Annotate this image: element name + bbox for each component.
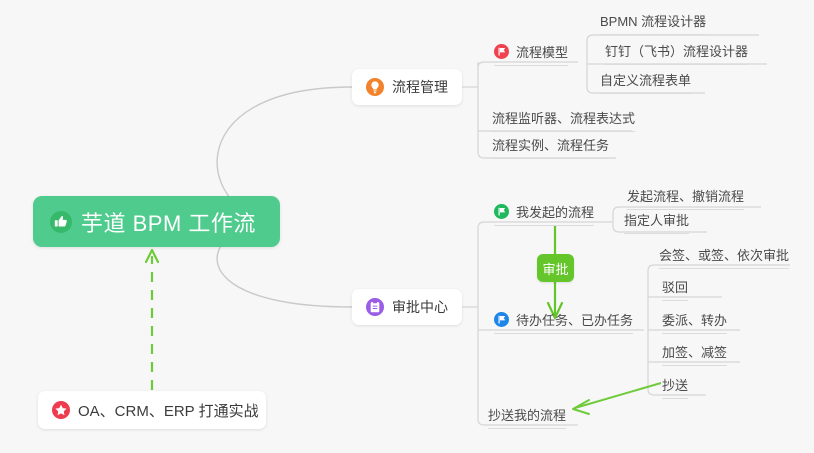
lightbulb-icon bbox=[366, 78, 384, 96]
leaf-custom-flow-form-label: 自定义流程表单 bbox=[600, 70, 691, 89]
trunk-flow-management-top bbox=[478, 62, 484, 68]
trunk-todo-done bbox=[648, 265, 654, 395]
leaf-cc-to-me-flow[interactable]: 抄送我的流程 bbox=[488, 405, 566, 429]
leaf-flow-listener-expression-label: 流程监听器、流程表达式 bbox=[492, 108, 635, 127]
root-node[interactable]: 芋道 BPM 工作流 bbox=[33, 196, 280, 247]
leaf-my-initiated-flow-label: 我发起的流程 bbox=[516, 202, 594, 221]
leaf-assignee-approval-label: 指定人审批 bbox=[624, 210, 689, 229]
leaf-add-remove-sign[interactable]: 加签、减签 bbox=[662, 342, 727, 366]
star-icon bbox=[52, 401, 70, 419]
thumbs-up-icon bbox=[50, 211, 72, 233]
leaf-cc-to-me-flow-label: 抄送我的流程 bbox=[488, 405, 566, 424]
node-flow-management[interactable]: 流程管理 bbox=[352, 69, 462, 105]
flag-red-icon bbox=[494, 44, 509, 59]
approve-badge-label: 审批 bbox=[542, 259, 568, 278]
leaf-flow-instance-task-label: 流程实例、流程任务 bbox=[492, 135, 609, 154]
node-approval-center[interactable]: 审批中心 bbox=[352, 289, 462, 325]
leaf-reject-label: 驳回 bbox=[662, 277, 688, 296]
node-oa-crm-erp[interactable]: OA、CRM、ERP 打通实战 bbox=[38, 391, 266, 429]
leaf-reject[interactable]: 驳回 bbox=[662, 277, 688, 301]
leaf-assignee-approval[interactable]: 指定人审批 bbox=[624, 210, 689, 234]
mindmap-canvas: 芋道 BPM 工作流 流程管理 审批中心 bbox=[0, 0, 814, 453]
root-label: 芋道 BPM 工作流 bbox=[81, 206, 256, 238]
leaf-flow-instance-task[interactable]: 流程实例、流程任务 bbox=[492, 135, 609, 159]
green-dashed-arrow bbox=[146, 250, 158, 390]
leaf-countersign-or-sequential-label: 会签、或签、依次审批 bbox=[659, 245, 789, 264]
approve-badge[interactable]: 审批 bbox=[537, 254, 574, 282]
flag-blue-icon bbox=[494, 312, 509, 327]
cc-link-arrow bbox=[573, 383, 661, 414]
leaf-countersign-or-sequential[interactable]: 会签、或签、依次审批 bbox=[659, 245, 789, 269]
leaf-start-cancel-flow[interactable]: 发起流程、撤销流程 bbox=[627, 186, 744, 210]
leaf-delegate-transfer-label: 委派、转办 bbox=[662, 310, 727, 329]
leaf-todo-done-task-label: 待办任务、已办任务 bbox=[516, 310, 633, 329]
node-oa-crm-erp-label: OA、CRM、ERP 打通实战 bbox=[78, 400, 259, 421]
trunk-flow-model bbox=[587, 35, 593, 93]
trunk-approval-center bbox=[478, 222, 484, 425]
leaf-dingtalk-feishu-designer-label: 钉钉（飞书）流程设计器 bbox=[605, 41, 748, 60]
leaf-bpmn-designer[interactable]: BPMN 流程设计器 bbox=[600, 11, 706, 35]
leaf-flow-model-label: 流程模型 bbox=[516, 42, 568, 61]
leaf-flow-listener-expression[interactable]: 流程监听器、流程表达式 bbox=[492, 108, 635, 132]
trunk-my-initiated bbox=[613, 207, 619, 232]
leaf-add-remove-sign-label: 加签、减签 bbox=[662, 342, 727, 361]
leaf-flow-model[interactable]: 流程模型 bbox=[494, 42, 568, 66]
node-approval-center-label: 审批中心 bbox=[392, 297, 448, 317]
leaf-start-cancel-flow-label: 发起流程、撤销流程 bbox=[627, 186, 744, 205]
leaf-custom-flow-form[interactable]: 自定义流程表单 bbox=[600, 70, 691, 94]
leaf-my-initiated-flow[interactable]: 我发起的流程 bbox=[494, 202, 594, 226]
trunk-flow-management bbox=[478, 62, 484, 158]
flag-green-icon bbox=[494, 204, 509, 219]
leaf-dingtalk-feishu-designer[interactable]: 钉钉（飞书）流程设计器 bbox=[605, 41, 748, 65]
leaf-delegate-transfer[interactable]: 委派、转办 bbox=[662, 310, 727, 334]
leaf-todo-done-task[interactable]: 待办任务、已办任务 bbox=[494, 310, 633, 334]
leaf-cc-label: 抄送 bbox=[662, 375, 688, 394]
node-flow-management-label: 流程管理 bbox=[392, 77, 448, 97]
clipboard-icon bbox=[366, 298, 384, 316]
leaf-cc[interactable]: 抄送 bbox=[662, 375, 688, 399]
leaf-bpmn-designer-label: BPMN 流程设计器 bbox=[600, 11, 706, 30]
